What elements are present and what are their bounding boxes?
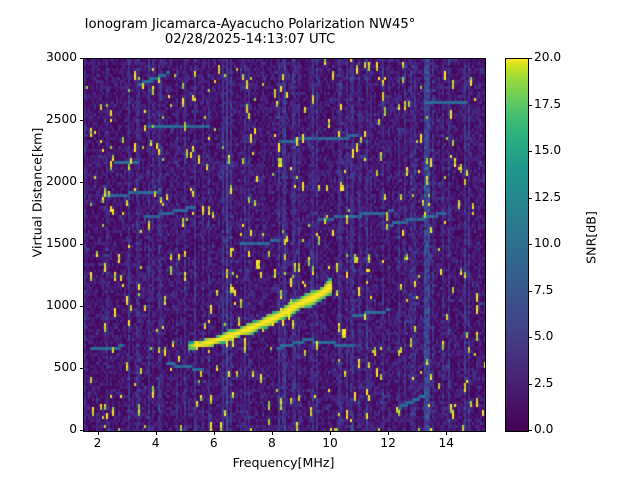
y-tick-mark [80,182,84,183]
colorbar-tick-mark [529,384,533,385]
title-line-1: Ionogram Jicamarca-Ayacucho Polarization… [0,18,500,33]
colorbar-tick-mark [529,105,533,106]
plot-area [83,58,486,432]
title-line-2: 02/28/2025-14:13:07 UTC [0,33,500,48]
colorbar-tick-mark [529,58,533,59]
colorbar-tick-label: 15.0 [534,143,584,157]
y-axis-label: Virtual Distance[km] [30,93,45,293]
x-tick-label: 14 [426,436,466,450]
colorbar-gradient [505,58,529,432]
x-axis-label: Frequency[MHz] [83,455,484,470]
colorbar-tick-label: 20.0 [534,50,584,64]
colorbar-tick-mark [529,244,533,245]
y-tick-label: 2000 [17,174,77,188]
figure-title: Ionogram Jicamarca-Ayacucho Polarization… [0,18,500,48]
y-tick-label: 2500 [17,112,77,126]
y-tick-mark [80,58,84,59]
x-tick-mark [330,431,331,435]
ionogram-figure: Ionogram Jicamarca-Ayacucho Polarization… [0,0,640,480]
colorbar-tick-label: 5.0 [534,329,584,343]
colorbar-tick-mark [529,430,533,431]
ionogram-heatmap [84,59,485,431]
x-tick-mark [446,431,447,435]
x-tick-label: 8 [252,436,292,450]
y-tick-mark [80,244,84,245]
y-tick-mark [80,368,84,369]
colorbar-tick-label: 7.5 [534,283,584,297]
x-tick-mark [272,431,273,435]
colorbar-tick-mark [529,198,533,199]
x-tick-label: 6 [194,436,234,450]
y-tick-mark [80,120,84,121]
x-tick-label: 12 [368,436,408,450]
x-tick-mark [214,431,215,435]
y-tick-mark [80,306,84,307]
colorbar-tick-label: 12.5 [534,190,584,204]
colorbar-tick-mark [529,291,533,292]
colorbar-tick-label: 2.5 [534,376,584,390]
x-tick-mark [388,431,389,435]
colorbar-tick-mark [529,151,533,152]
x-tick-label: 2 [78,436,118,450]
y-tick-label: 3000 [17,50,77,64]
y-tick-mark [80,430,84,431]
x-tick-label: 4 [136,436,176,450]
x-tick-mark [156,431,157,435]
colorbar-tick-label: 0.0 [534,422,584,436]
y-tick-label: 0 [17,422,77,436]
colorbar-tick-mark [529,337,533,338]
x-tick-label: 10 [310,436,350,450]
colorbar-label: SNR[dB] [584,148,599,328]
y-tick-label: 1500 [17,236,77,250]
colorbar-tick-label: 10.0 [534,236,584,250]
x-tick-mark [98,431,99,435]
y-tick-label: 1000 [17,298,77,312]
colorbar-tick-label: 17.5 [534,97,584,111]
y-tick-label: 500 [17,360,77,374]
